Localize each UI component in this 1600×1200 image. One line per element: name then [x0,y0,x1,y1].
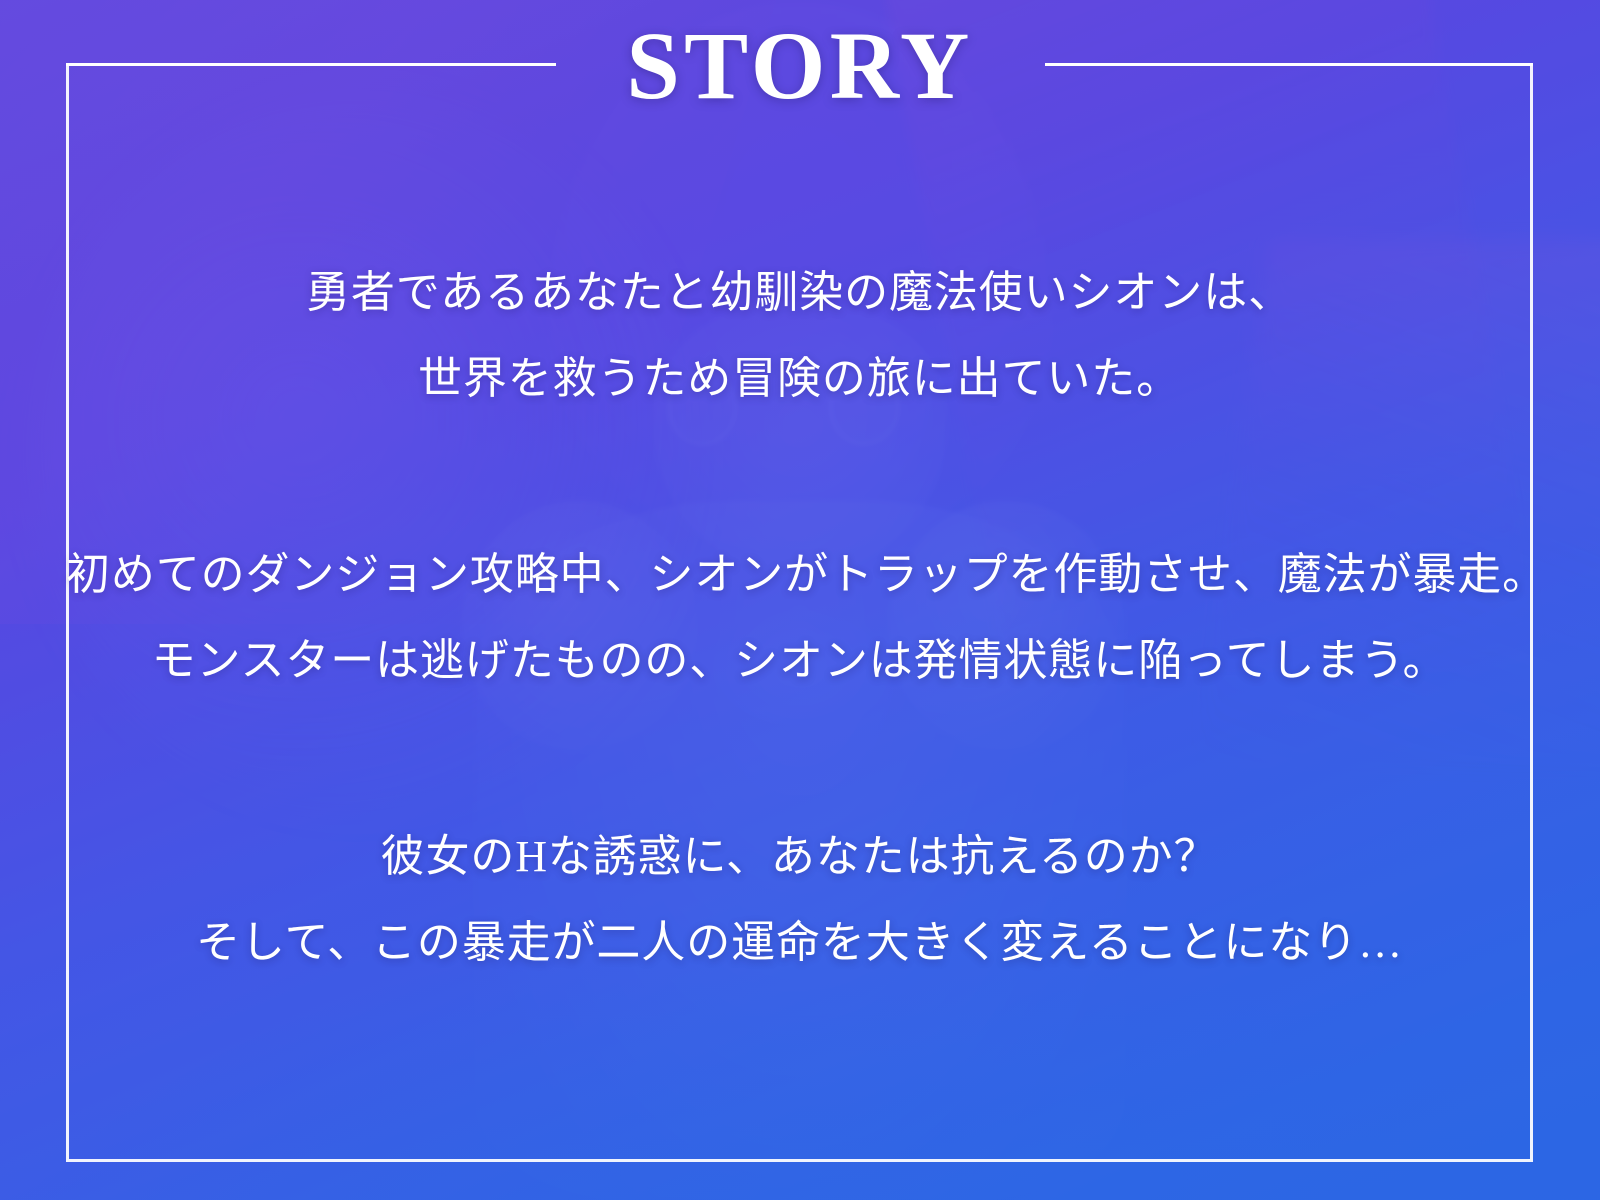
story-line: 彼女のHな誘惑に、あなたは抗えるのか？ [66,814,1533,900]
frame-top-border-segment [66,63,556,66]
story-line: そして、この暴走が二人の運命を大きく変えることになり… [66,900,1533,986]
story-line: モンスターは逃げたものの、シオンは発情状態に陥ってしまう。 [66,618,1533,704]
story-line: 世界を救うため冒険の旅に出ていた。 [66,336,1533,422]
page-title: STORY [0,16,1600,117]
story-line: 初めてのダンジョン攻略中、シオンがトラップを作動させ、魔法が暴走。 [66,532,1533,618]
story-paragraph: 初めてのダンジョン攻略中、シオンがトラップを作動させ、魔法が暴走。 モンスターは… [66,532,1533,704]
story-text-block: 勇者であるあなたと幼馴染の魔法使いシオンは、 世界を救うため冒険の旅に出ていた。… [66,250,1533,986]
frame-top-border-segment [1045,63,1533,66]
story-line: 勇者であるあなたと幼馴染の魔法使いシオンは、 [66,250,1533,336]
story-paragraph: 彼女のHな誘惑に、あなたは抗えるのか？ そして、この暴走が二人の運命を大きく変え… [66,814,1533,986]
story-paragraph: 勇者であるあなたと幼馴染の魔法使いシオンは、 世界を救うため冒険の旅に出ていた。 [66,250,1533,422]
story-card: STORY 勇者であるあなたと幼馴染の魔法使いシオンは、 世界を救うため冒険の旅… [0,0,1600,1200]
